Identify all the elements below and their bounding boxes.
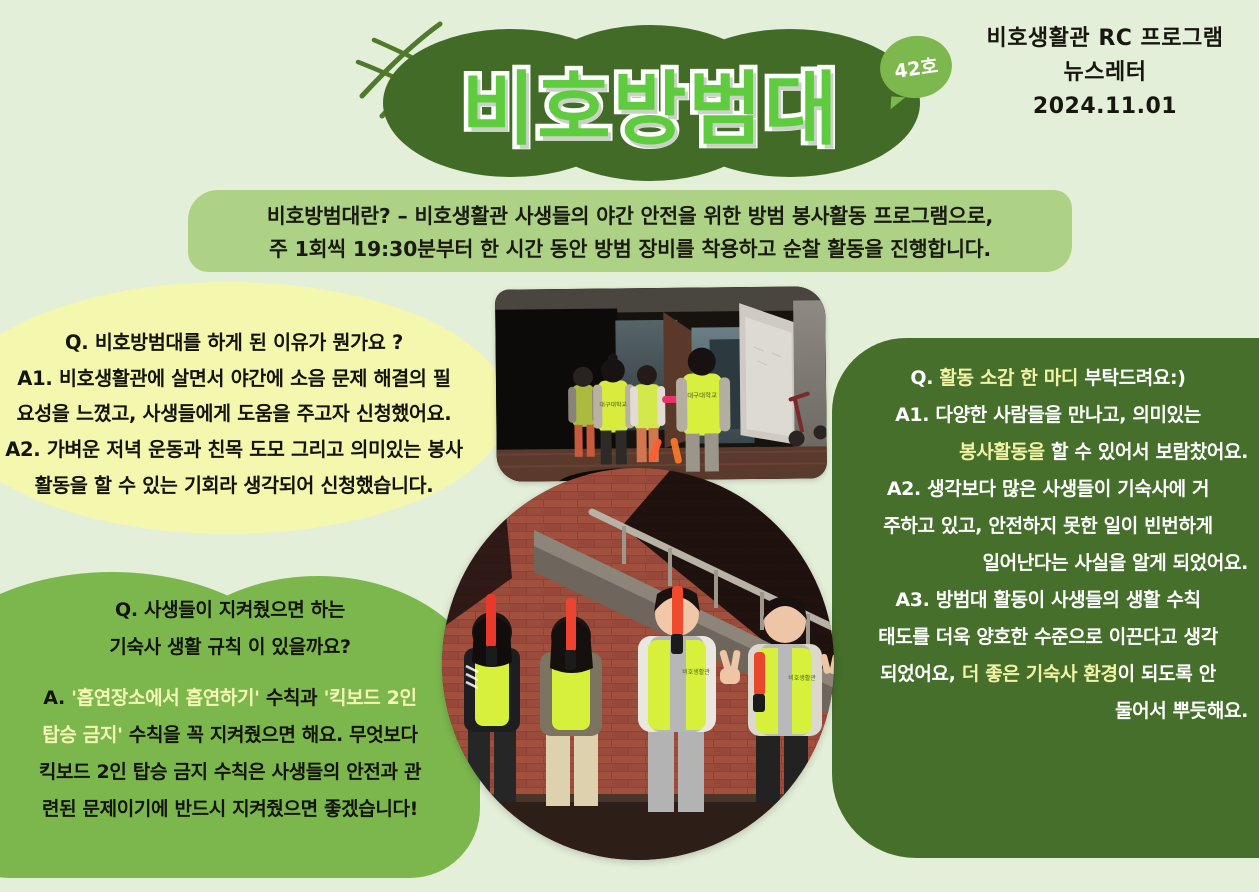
intro-banner-line1: 비호방범대란? – 비호생활관 사생들의 야간 안전을 위한 방범 봉사활동 프… <box>267 200 993 233</box>
qa-card-darkgreen: Q. 활동 소감 한 마디 부탁드려요:) A1. 다양한 사람들을 만나고, … <box>838 360 1259 730</box>
intro-banner: 비호방범대란? – 비호생활관 사생들의 야간 안전을 위한 방범 봉사활동 프… <box>188 190 1072 272</box>
qa-dgreen-a1-line2: 봉사활동을 할 수 있어서 보람찼어요. <box>842 434 1254 471</box>
masthead-date: 2024.11.01 <box>960 90 1250 124</box>
qa-dgreen-a3-highlight: 더 좋은 기숙사 환경 <box>962 663 1118 685</box>
qa-dgreen-a3-line3: 되었어요, 더 좋은 기숙사 환경이 되도록 안 <box>842 656 1254 693</box>
newsletter-poster: 비호방범대 42호 비호생활관 RC 프로그램 뉴스레터 2024.11.01 … <box>0 0 1259 892</box>
intro-banner-line2: 주 1회씩 19:30분부터 한 시간 동안 방범 장비를 착용하고 순찰 활동… <box>269 233 991 266</box>
qa-dgreen-a3-line4: 둘어서 뿌듯해요. <box>842 693 1254 730</box>
qa-lgreen-answer-line4: 련된 문제이기에 반드시 지켜줬으면 좋겠습니다! <box>0 791 490 828</box>
qa-lgreen-question-line1: Q. 사생들이 지켜줬으면 하는 <box>0 592 490 629</box>
qa-yellow-answer2-line1: A2. 가벼운 저녁 운동과 친목 도모 그리고 의미있는 봉사 <box>0 432 490 468</box>
qa-dgreen-question: Q. 활동 소감 한 마디 부탁드려요:) <box>842 360 1254 397</box>
masthead-program: 비호생활관 RC 프로그램 <box>960 22 1250 56</box>
qa-card-lightgreen: Q. 사생들이 지켜줬으면 하는 기숙사 생활 규칙 이 있을까요? A. '흡… <box>0 592 490 828</box>
qa-yellow-answer1-line2: 요성을 느꼈고, 사생들에게 도움을 주고자 신청했어요. <box>0 396 490 432</box>
qa-dgreen-a1-rest: 할 수 있어서 보람찼어요. <box>1045 441 1248 463</box>
qa-dgreen-a3-suffix: 이 되도록 안 <box>1118 663 1216 685</box>
svg-text:비호생활관: 비호생활관 <box>682 668 710 676</box>
qa-yellow-answer1-line1: A1. 비호생활관에 살면서 야간에 소음 문제 해결의 필 <box>0 361 490 397</box>
qa-card-yellow: Q. 비호방범대를 하게 된 이유가 뭔가요 ? A1. 비호생활관에 살면서 … <box>0 325 504 503</box>
page-title: 비호방범대 <box>378 22 923 184</box>
qa-lgreen-answer-line2: 탑승 금지' 수칙을 꼭 지켜줬으면 해요. 무엇보다 <box>0 717 490 754</box>
qa-lgreen-a-highlight3: 탑승 금지' <box>42 724 122 746</box>
qa-lgreen-a-mid: 수칙과 <box>260 687 324 709</box>
issue-badge-label: 42호 <box>892 51 939 84</box>
team-group-photo: 비호생활관 비호생활관 <box>442 468 834 860</box>
night-patrol-entrance-photo: 대구대학교 대구대학교 <box>495 286 827 481</box>
qa-dgreen-a3-prefix: 되었어요, <box>880 663 962 685</box>
qa-dgreen-a2-line1: A2. 생각보다 많은 사생들이 기숙사에 거 <box>842 471 1254 508</box>
qa-dgreen-a1-line1: A1. 다양한 사람들을 만나고, 의미있는 <box>842 397 1254 434</box>
qa-lgreen-answer-line3: 킥보드 2인 탑승 금지 수칙은 사생들의 안전과 관 <box>0 754 490 791</box>
qa-lgreen-a-highlight2: '킥보드 2인 <box>324 687 417 709</box>
qa-dgreen-a2-line2: 주하고 있고, 안전하지 못한 일이 빈번하게 <box>842 508 1254 545</box>
qa-dgreen-a1-highlight: 봉사활동을 <box>959 441 1045 463</box>
qa-lgreen-a-rest: 수칙을 꼭 지켜줬으면 해요. 무엇보다 <box>123 724 418 746</box>
qa-lgreen-a-prefix: A. <box>43 687 71 709</box>
svg-text:비호생활관: 비호생활관 <box>788 674 816 682</box>
qa-lgreen-a-highlight1: '흡연장소에서 흡연하기' <box>71 687 260 709</box>
masthead-newsletter: 뉴스레터 <box>960 56 1250 90</box>
qa-yellow-answer2-line2: 활동을 할 수 있는 기회라 생각되어 신청했습니다. <box>0 468 490 504</box>
svg-text:대구대학교: 대구대학교 <box>687 390 717 399</box>
svg-text:대구대학교: 대구대학교 <box>599 400 627 408</box>
masthead: 비호생활관 RC 프로그램 뉴스레터 2024.11.01 <box>960 22 1250 124</box>
qa-lgreen-answer-line1: A. '흡연장소에서 흡연하기' 수칙과 '킥보드 2인 <box>0 680 490 717</box>
qa-dgreen-a3-line1: A3. 방범대 활동이 사생들의 생활 수칙 <box>842 582 1254 619</box>
qa-dgreen-q-prefix: Q. <box>910 367 939 389</box>
qa-dgreen-a3-line2: 태도를 더욱 양호한 수준으로 이끈다고 생각 <box>842 619 1254 656</box>
qa-yellow-question: Q. 비호방범대를 하게 된 이유가 뭔가요 ? <box>0 325 490 361</box>
qa-dgreen-q-suffix: 부탁드려요:) <box>1078 367 1186 389</box>
qa-dgreen-q-highlight: 활동 소감 한 마디 <box>939 367 1078 389</box>
qa-lgreen-question-line2: 기숙사 생활 규칙 이 있을까요? <box>0 629 490 666</box>
qa-dgreen-a2-line3: 일어난다는 사실을 알게 되었어요. <box>842 545 1254 582</box>
